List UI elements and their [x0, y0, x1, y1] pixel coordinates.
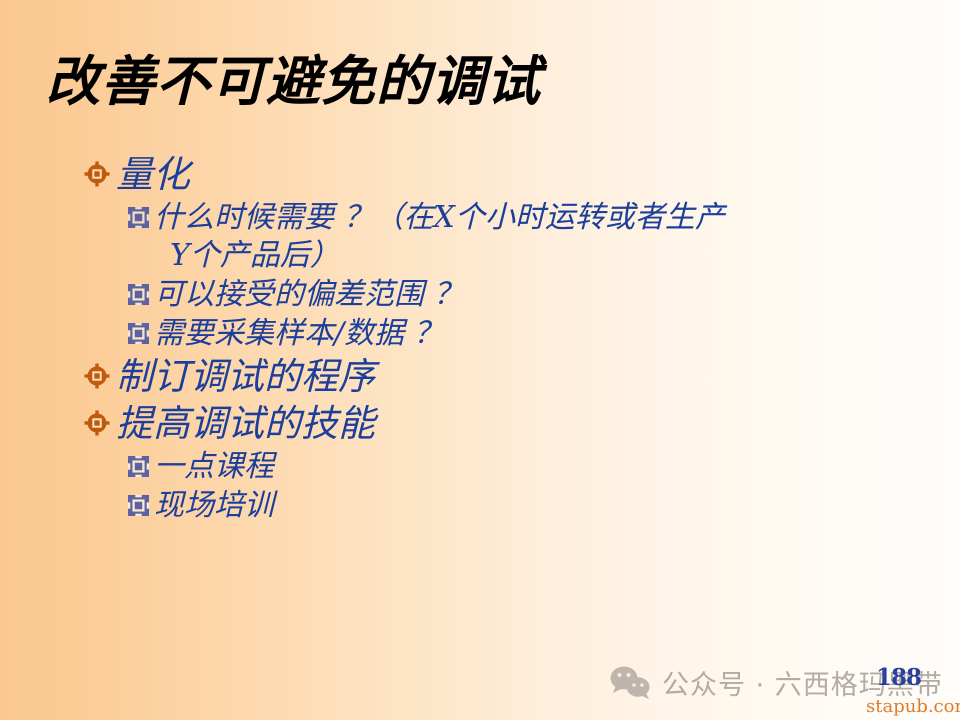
list-item[interactable]: 现场培训 — [128, 487, 914, 525]
diamond-target-bullet-icon — [84, 363, 110, 389]
list-item[interactable]: 需要采集样本/数据 ？ — [128, 315, 914, 353]
list-item[interactable]: 提高调试的技能 — [84, 401, 914, 446]
list-item[interactable]: 一点课程 — [128, 448, 914, 486]
list-item-label-line2: Y个产品后） — [154, 237, 725, 275]
list-item[interactable]: 什么时候需要 ？（在X个小时运转或者生产 Y个产品后） — [128, 199, 914, 275]
list-item-label: 一点课程 — [154, 448, 274, 486]
list-item-label: 什么时候需要 ？（在X个小时运转或者生产 Y个产品后） — [154, 199, 725, 275]
four-square-bullet-icon — [128, 323, 149, 344]
diamond-target-bullet-icon — [84, 410, 110, 436]
list-item[interactable]: 制订调试的程序 — [84, 354, 914, 399]
list-item-label: 量化 — [116, 152, 190, 197]
list-item-label: 需要采集样本/数据 ？ — [154, 315, 444, 353]
list-item-label: 可以接受的偏差范围 ？ — [154, 276, 464, 314]
page-number: 188 — [876, 664, 921, 691]
list-item-label: 制订调试的程序 — [116, 354, 375, 399]
list-item[interactable]: 量化 — [84, 152, 914, 197]
page-title: 改善不可避免的调试 — [46, 50, 541, 112]
bullet-list: 量化 什么时候需要 ？（在X个小时运转或者生产 Y个产品后） — [84, 152, 914, 526]
slide-canvas: 改善不可避免的调试 量化 — [0, 0, 960, 720]
list-item-label: 提高调试的技能 — [116, 401, 375, 446]
list-item-label: 现场培训 — [154, 487, 274, 525]
list-item-label-line1: 什么时候需要 ？（在X个小时运转或者生产 — [154, 199, 725, 237]
diamond-target-bullet-icon — [84, 161, 110, 187]
list-item[interactable]: 可以接受的偏差范围 ？ — [128, 276, 914, 314]
four-square-bullet-icon — [128, 207, 149, 228]
four-square-bullet-icon — [128, 456, 149, 477]
four-square-bullet-icon — [128, 284, 149, 305]
site-watermark: stapub.com — [866, 696, 960, 717]
four-square-bullet-icon — [128, 495, 149, 516]
wechat-icon — [608, 665, 652, 699]
